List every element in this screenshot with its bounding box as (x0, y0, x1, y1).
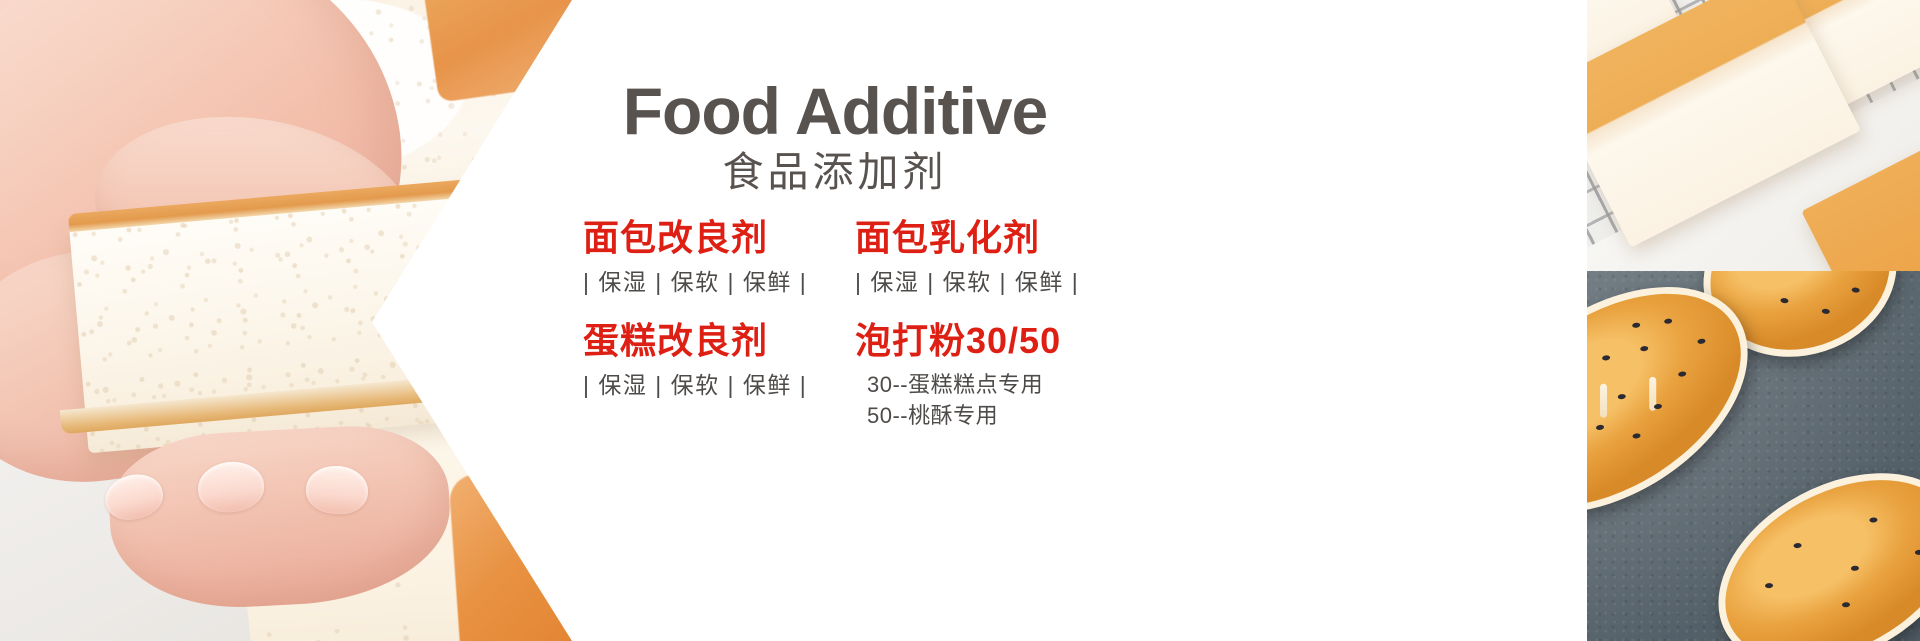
product-note-line: 50--桃酥专用 (867, 400, 1095, 431)
product-columns: 面包改良剂 | 保湿 | 保软 | 保鲜 | 蛋糕改良剂 | 保湿 | 保软 |… (583, 216, 1323, 453)
page-title-chinese: 食品添加剂 (575, 148, 1095, 197)
product-features: | 保湿 | 保软 | 保鲜 | (583, 371, 823, 400)
product-note-line: 30--蛋糕糕点专用 (867, 369, 1095, 400)
banner-text-block: Food Additive 食品添加剂 面包改良剂 | 保湿 | 保软 | 保鲜… (575, 0, 1335, 641)
product-notes: 30--蛋糕糕点专用 50--桃酥专用 (855, 369, 1095, 431)
page-title-english: Food Additive (575, 78, 1095, 144)
product-bread-emulsifier: 面包乳化剂 | 保湿 | 保软 | 保鲜 | (855, 216, 1095, 297)
product-features: | 保湿 | 保软 | 保鲜 | (855, 268, 1095, 297)
product-baking-powder: 泡打粉30/50 30--蛋糕糕点专用 50--桃酥专用 (855, 319, 1095, 431)
product-features: | 保湿 | 保软 | 保鲜 | (583, 268, 823, 297)
product-name: 泡打粉30/50 (855, 319, 1095, 363)
product-bread-improver: 面包改良剂 | 保湿 | 保软 | 保鲜 | (583, 216, 823, 297)
food-additive-banner: Food Additive 食品添加剂 面包改良剂 | 保湿 | 保软 | 保鲜… (0, 0, 1920, 641)
product-column-right: 面包乳化剂 | 保湿 | 保软 | 保鲜 | 泡打粉30/50 30--蛋糕糕点… (855, 216, 1095, 453)
product-name: 蛋糕改良剂 (583, 319, 823, 363)
product-name: 面包乳化剂 (855, 216, 1095, 260)
product-column-left: 面包改良剂 | 保湿 | 保软 | 保鲜 | 蛋糕改良剂 | 保湿 | 保软 |… (583, 216, 823, 453)
product-cake-improver: 蛋糕改良剂 | 保湿 | 保软 | 保鲜 | (583, 319, 823, 400)
product-name: 面包改良剂 (583, 216, 823, 260)
